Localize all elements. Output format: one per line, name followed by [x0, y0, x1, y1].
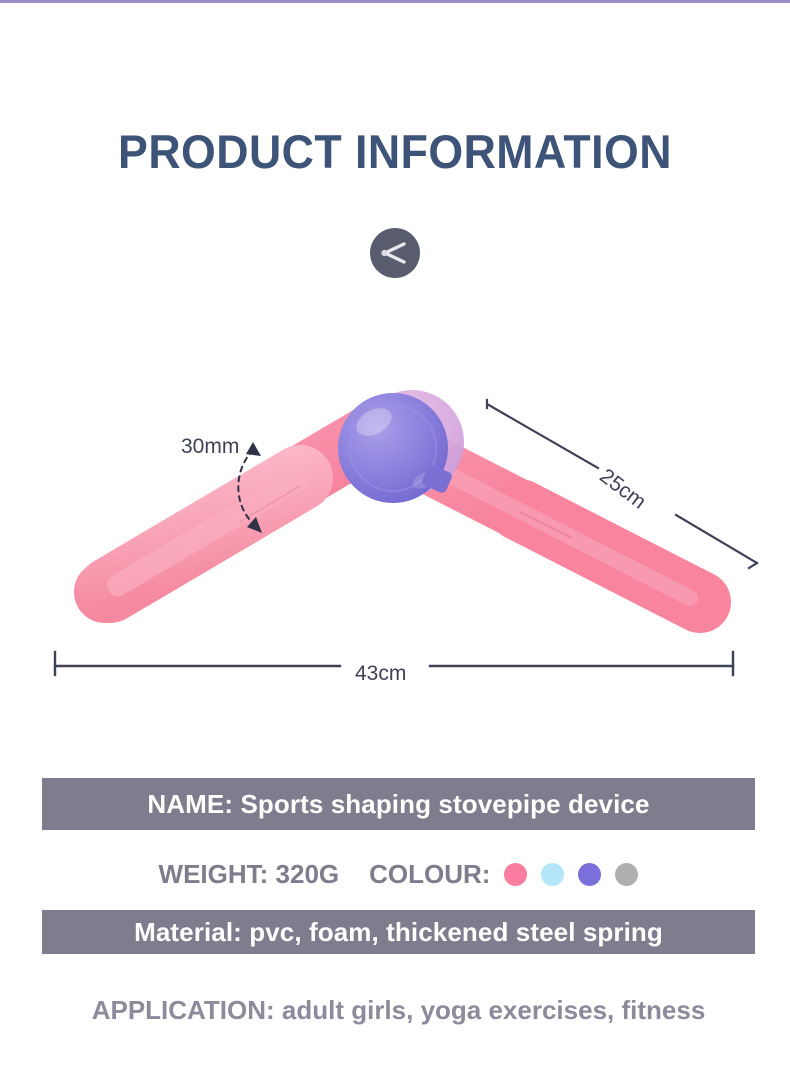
product-illustration	[0, 330, 790, 710]
spec-name-bar: NAME: Sports shaping stovepipe device	[42, 778, 755, 830]
page-title: PRODUCT INFORMATION	[20, 124, 771, 179]
colour-swatch-pink[interactable]	[504, 863, 527, 886]
spec-weight-colour-row: WEIGHT: 320G COLOUR:	[42, 852, 755, 896]
colour-swatch-purple[interactable]	[578, 863, 601, 886]
spec-material-bar: Material: pvc, foam, thickened steel spr…	[42, 910, 755, 954]
colour-swatch-gray[interactable]	[615, 863, 638, 886]
colour-swatch-light-blue[interactable]	[541, 863, 564, 886]
dimension-label-43cm: 43cm	[355, 662, 406, 686]
device-angle-icon	[370, 228, 420, 278]
dimension-label-30mm: 30mm	[181, 435, 239, 459]
spec-weight-label: WEIGHT: 320G	[159, 859, 340, 890]
spec-application-label: APPLICATION: adult girls, yoga exercises…	[42, 995, 755, 1026]
top-accent-rule	[0, 0, 790, 3]
product-right-arm	[418, 458, 700, 602]
product-hub	[338, 390, 464, 503]
spec-colour-label: COLOUR:	[369, 859, 490, 890]
spec-colour-group: COLOUR:	[369, 859, 638, 890]
